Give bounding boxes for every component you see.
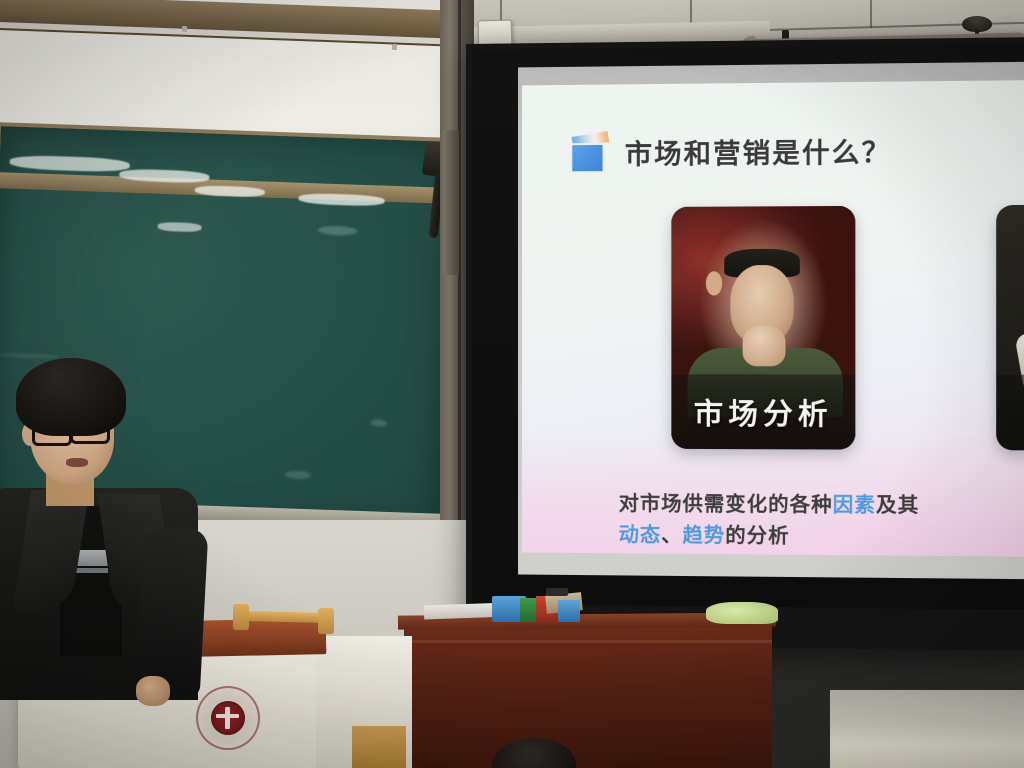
presentation-slide: 市场和营销是什么？ 市场分析 营销策 (522, 80, 1024, 557)
blurb-highlight: 动态 (619, 524, 662, 546)
blurb-market-analysis: 对市场供需变化的各种因素及其动态、趋势的分析 (619, 489, 926, 554)
back-desk-surface (830, 690, 1024, 768)
blurb-highlight: 因素 (833, 494, 876, 517)
green-cloth (706, 602, 778, 624)
presenter-hand (136, 676, 170, 706)
blurb-text: 及其 (876, 494, 919, 517)
blurb-line: 动态、趋势的分析 (619, 520, 926, 554)
chalk-smudge (157, 222, 201, 233)
lectern-post (233, 604, 249, 630)
lectern-post (318, 608, 334, 634)
shirt-graphic-sub (74, 568, 108, 573)
card-caption: 营销策 (996, 375, 1024, 451)
desk-clip (546, 588, 568, 596)
projection-screen: 市场和营销是什么？ 市场分析 营销策 (466, 37, 1024, 651)
ceiling-hook (962, 16, 992, 32)
desk-blue-box (558, 600, 580, 622)
desk-edge-highlight (404, 640, 772, 643)
wall-fixture (392, 44, 397, 50)
presenter (0, 358, 218, 698)
classroom-photo-scene: 市场和营销是什么？ 市场分析 营销策 (0, 0, 1024, 768)
ceiling-tile-line (870, 0, 872, 28)
image-card: 市场分析 (671, 206, 855, 450)
wall-fixture (182, 26, 187, 32)
chalk-smudge (317, 225, 357, 235)
blue-square-pages-icon (570, 134, 606, 170)
presenter-hair (16, 358, 126, 436)
slide-blurbs: 对市场供需变化的各种因素及其动态、趋势的分析 以顾客需求为出发点各项经营活动，从… (619, 489, 1024, 557)
blurb-highlight: 趋势 (683, 525, 726, 548)
lectern-rail (243, 611, 327, 623)
card-caption-text: 市场分析 (694, 390, 833, 433)
blurb-line: 对市场供需变化的各种因素及其 (619, 489, 926, 522)
chalk-smudge (285, 470, 311, 479)
slide-title-row: 市场和营销是什么？ (570, 130, 891, 172)
chalk-smudge (10, 155, 130, 173)
card-caption: 市场分析 (671, 374, 855, 449)
pillar-plate (443, 130, 459, 275)
chalk-smudge (371, 419, 387, 427)
blurb-text: 的分析 (725, 525, 789, 548)
blurb-text: 对市场供需变化的各种 (619, 493, 833, 517)
slide-image-cards: 市场分析 营销策 (671, 204, 1024, 451)
blurb-text: 、 (661, 524, 682, 546)
slide-title: 市场和营销是什么？ (625, 130, 892, 171)
presenter-arm (134, 526, 209, 699)
presenter-mouth (66, 458, 88, 467)
image-card: 营销策 (996, 204, 1024, 451)
wooden-stool (352, 726, 406, 768)
